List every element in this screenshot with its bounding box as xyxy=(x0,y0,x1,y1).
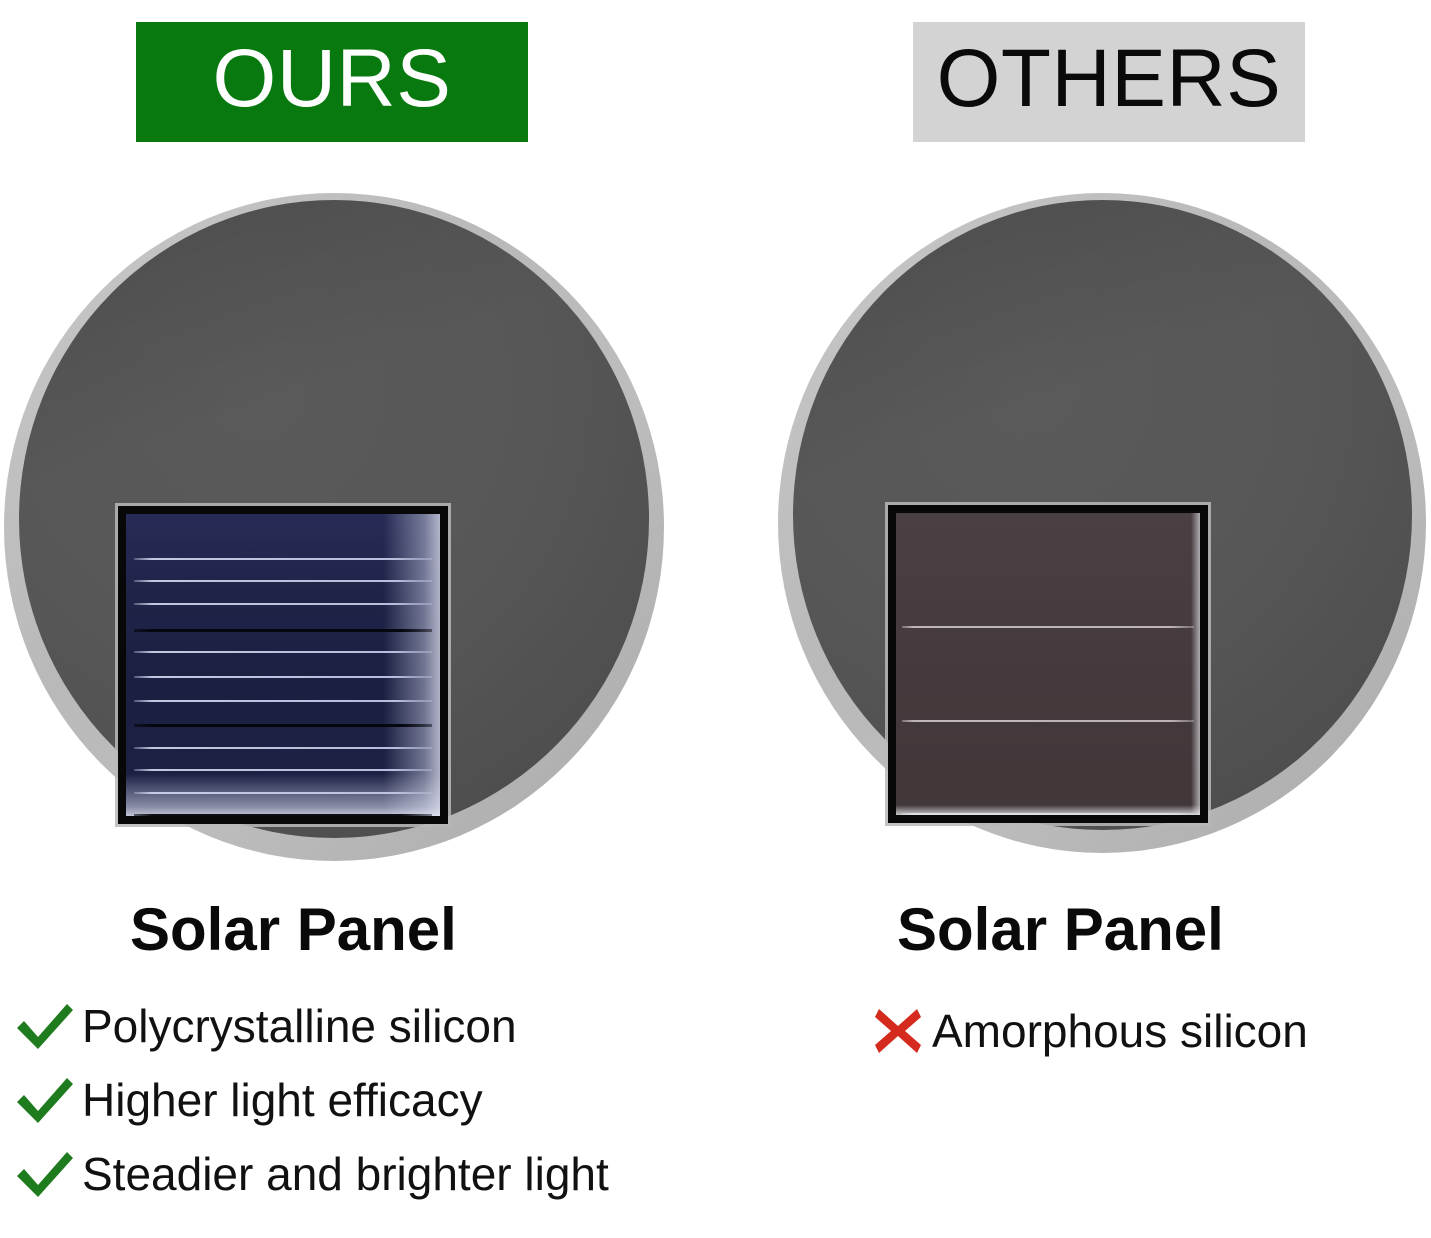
check-icon xyxy=(14,1001,76,1051)
solar-cell-busbar-others-0 xyxy=(902,626,1194,628)
feature-row-right-0: Amorphous silicon xyxy=(872,1004,1308,1058)
header-badge-ours-label: OURS xyxy=(213,38,452,120)
cross-icon xyxy=(872,1006,924,1056)
solar-panel-frame-others xyxy=(888,505,1208,823)
feature-row-left-0: Polycrystalline silicon xyxy=(14,999,609,1053)
solar-cell-busbar-ours-10 xyxy=(134,792,432,794)
solar-cell-busbar-ours-6 xyxy=(134,700,432,702)
solar-cell-busbar-ours-11 xyxy=(134,814,432,816)
feature-list-ours: Polycrystalline siliconHigher light effi… xyxy=(14,999,609,1201)
product-title-others: Solar Panel xyxy=(897,900,1224,960)
product-title-ours: Solar Panel xyxy=(130,900,457,960)
solar-cell-busbar-ours-9 xyxy=(134,769,432,771)
feature-label: Steadier and brighter light xyxy=(82,1151,609,1197)
header-badge-others: OTHERS xyxy=(913,22,1305,142)
feature-row-left-1: Higher light efficacy xyxy=(14,1073,609,1127)
polycrystalline-solar-cell-icon xyxy=(126,514,440,816)
feature-list-others: Amorphous silicon xyxy=(872,1004,1308,1058)
header-badge-others-label: OTHERS xyxy=(937,38,1282,120)
solar-cell-busbar-ours-8 xyxy=(134,747,432,749)
solar-cell-busbar-ours-2 xyxy=(134,603,432,605)
solar-cell-busbar-others-2 xyxy=(902,813,1194,815)
feature-label: Higher light efficacy xyxy=(82,1077,483,1123)
check-icon xyxy=(14,1075,76,1125)
feature-label: Polycrystalline silicon xyxy=(82,1003,517,1049)
solar-cell-busbar-others-1 xyxy=(902,720,1194,722)
solar-cell-busbar-ours-0 xyxy=(134,558,432,560)
solar-lamp-disc-others xyxy=(778,193,1426,853)
feature-row-left-2: Steadier and brighter light xyxy=(14,1147,609,1201)
header-badge-ours: OURS xyxy=(136,22,528,142)
solar-lamp-disc-ours xyxy=(4,193,664,861)
check-icon xyxy=(14,1149,76,1199)
amorphous-solar-cell-icon xyxy=(896,513,1200,815)
solar-cell-busbar-ours-4 xyxy=(134,651,432,653)
solar-cell-busbar-ours-1 xyxy=(134,580,432,582)
solar-cell-busbar-ours-5 xyxy=(134,676,432,678)
solar-cell-busbar-ours-7 xyxy=(134,724,432,727)
feature-label: Amorphous silicon xyxy=(932,1008,1308,1054)
solar-cell-busbar-ours-3 xyxy=(134,629,432,632)
solar-panel-frame-ours xyxy=(118,506,448,824)
